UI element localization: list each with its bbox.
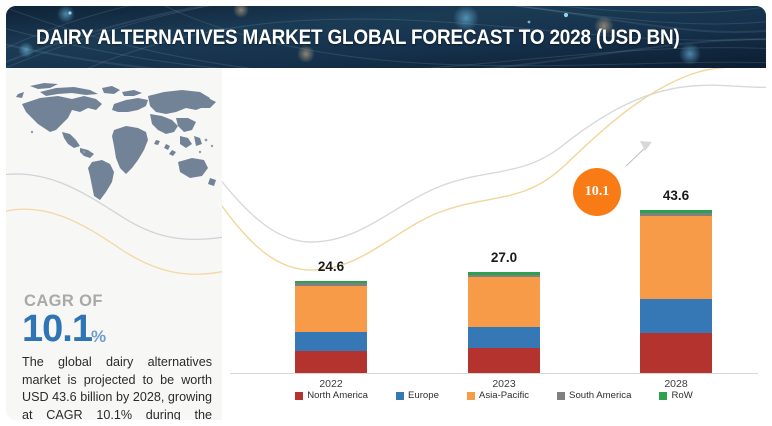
bar-2022[interactable] bbox=[295, 281, 367, 373]
legend-swatch-icon bbox=[295, 392, 303, 400]
sidebar-panel: CAGR OF 10.1 % The global dairy alternat… bbox=[6, 68, 222, 420]
header-banner: DAIRY ALTERNATIVES MARKET GLOBAL FORECAS… bbox=[6, 6, 766, 68]
bar-segment-europe[interactable] bbox=[468, 327, 540, 348]
bar-segment-europe[interactable] bbox=[295, 332, 367, 351]
bar-segment-north-america[interactable] bbox=[640, 333, 712, 373]
world-map-icon bbox=[10, 74, 222, 204]
legend-swatch-icon bbox=[396, 392, 404, 400]
bar-total-label-2028: 43.6 bbox=[640, 188, 712, 203]
bar-2028[interactable] bbox=[640, 210, 712, 373]
legend-label: North America bbox=[307, 390, 368, 401]
cagr-value: 10.1 bbox=[22, 308, 92, 351]
bar-segment-asia-pacific[interactable] bbox=[295, 286, 367, 331]
chart-legend: North AmericaEuropeAsia-PacificSouth Ame… bbox=[222, 390, 766, 401]
page-title: DAIRY ALTERNATIVES MARKET GLOBAL FORECAS… bbox=[36, 6, 680, 68]
chart-panel: 24.6202227.0202343.62028 10.1 North Amer… bbox=[222, 68, 766, 420]
bar-total-label-2022: 24.6 bbox=[295, 259, 367, 274]
legend-item-row[interactable]: RoW bbox=[659, 390, 692, 401]
legend-label: Asia-Pacific bbox=[479, 390, 529, 401]
legend-swatch-icon bbox=[557, 392, 565, 400]
infographic-frame: DAIRY ALTERNATIVES MARKET GLOBAL FORECAS… bbox=[0, 0, 772, 426]
legend-label: Europe bbox=[408, 390, 439, 401]
chart-baseline bbox=[230, 373, 758, 374]
bar-2023[interactable] bbox=[468, 272, 540, 373]
bar-segment-asia-pacific[interactable] bbox=[468, 277, 540, 327]
legend-label: South America bbox=[569, 390, 631, 401]
stacked-bar-chart: 24.6202227.0202343.62028 10.1 North Amer… bbox=[222, 68, 766, 420]
cagr-callout-badge[interactable]: 10.1 bbox=[573, 168, 621, 216]
x-axis-tick-2028: 2028 bbox=[640, 378, 712, 390]
bar-segment-north-america[interactable] bbox=[295, 351, 367, 373]
bar-total-label-2023: 27.0 bbox=[468, 250, 540, 265]
bar-segment-europe[interactable] bbox=[640, 299, 712, 334]
legend-item-europe[interactable]: Europe bbox=[396, 390, 439, 401]
market-description: The global dairy alternatives market is … bbox=[22, 354, 212, 420]
legend-item-north-america[interactable]: North America bbox=[295, 390, 368, 401]
cagr-percent-sign: % bbox=[91, 327, 106, 347]
legend-item-asia-pacific[interactable]: Asia-Pacific bbox=[467, 390, 529, 401]
legend-swatch-icon bbox=[467, 392, 475, 400]
x-axis-tick-2022: 2022 bbox=[295, 378, 367, 390]
legend-item-south-america[interactable]: South America bbox=[557, 390, 631, 401]
bar-segment-asia-pacific[interactable] bbox=[640, 216, 712, 298]
legend-swatch-icon bbox=[659, 392, 667, 400]
x-axis-tick-2023: 2023 bbox=[468, 378, 540, 390]
legend-label: RoW bbox=[671, 390, 692, 401]
bar-segment-north-america[interactable] bbox=[468, 348, 540, 373]
